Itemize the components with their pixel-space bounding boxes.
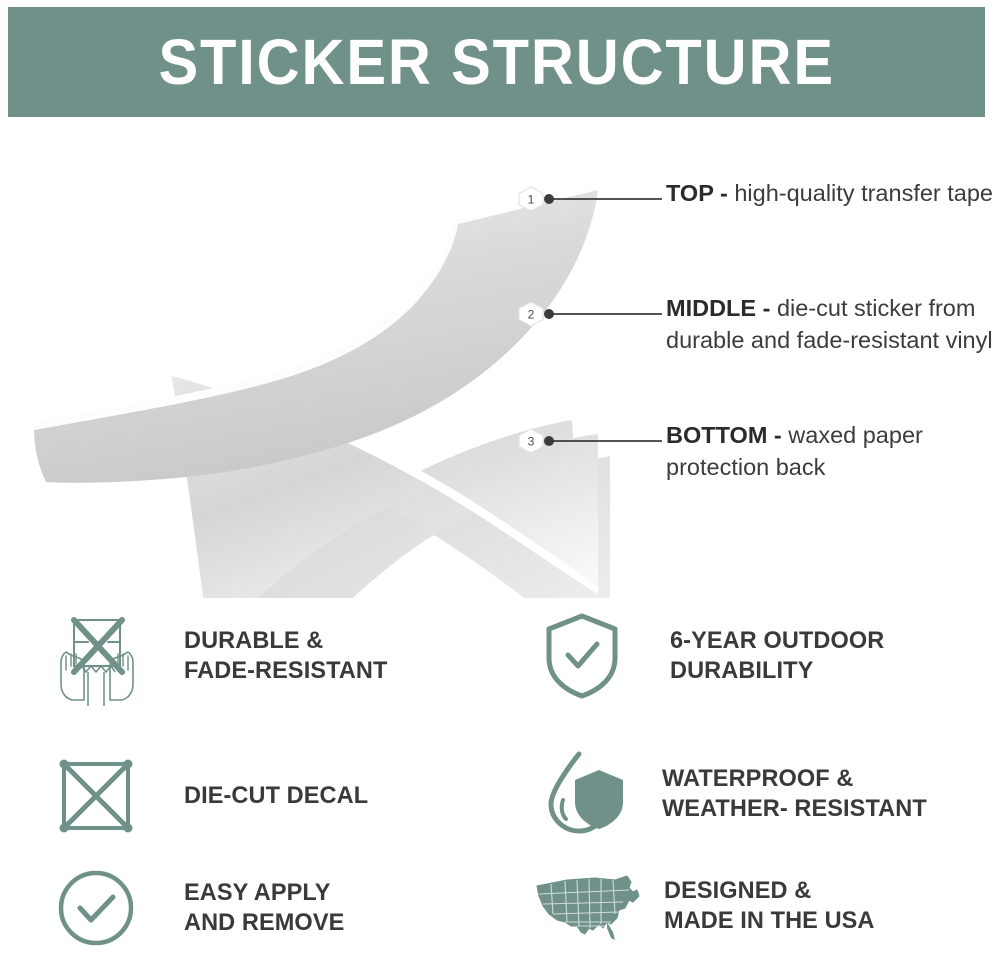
feature-label-1: DIE-CUT DECAL [184, 781, 368, 811]
infographic-page: STICKER STRUCTURE [0, 0, 1000, 953]
feature-list: DURABLE & FADE-RESISTANT DIE-CUT DECAL [0, 602, 1000, 953]
callout-number-1: 1 [528, 193, 535, 207]
feature-item-outdoor-durability: 6-YEAR OUTDOOR DURABILITY [530, 604, 893, 708]
usa-map-icon [530, 854, 648, 953]
feature-label-0: DURABLE & FADE-RESISTANT [184, 626, 387, 687]
callout-marker-2: 2 [518, 301, 666, 327]
shield-solid [575, 770, 623, 829]
feature-item-easy-apply-remove: EASY APPLY AND REMOVE [44, 856, 351, 953]
hands-tearing-paper-crossed-out-icon [44, 604, 148, 708]
callout-marker-1: 1 [518, 186, 666, 212]
feature-item-designed-made-in-usa: DESIGNED & MADE IN THE USA [530, 854, 883, 953]
callout-body-1: high-quality transfer tape [728, 180, 993, 206]
shield-check-icon [530, 604, 634, 708]
water-drop-shield-icon [530, 742, 640, 846]
callout-number-3: 3 [528, 435, 535, 449]
callout-lead-2: MIDDLE - [666, 295, 770, 321]
check-circle-icon [44, 856, 148, 953]
die-cut-square-x-icon [44, 744, 148, 848]
callout-text-2: MIDDLE - die-cut sticker from durable an… [666, 293, 996, 357]
callout-text-3: BOTTOM - waxed paper protection back [666, 420, 996, 484]
callout-lead-3: BOTTOM - [666, 422, 782, 448]
feature-item-waterproof-weather-resistant: WATERPROOF & WEATHER- RESISTANT [530, 742, 938, 846]
callout-marker-3: 3 [518, 428, 666, 454]
callout-lead-1: TOP - [666, 180, 728, 206]
feature-label-2: EASY APPLY AND REMOVE [184, 878, 344, 939]
header-band: STICKER STRUCTURE [8, 7, 985, 117]
page-title: STICKER STRUCTURE [158, 30, 834, 94]
callout-3: 3 BOTTOM - waxed paper protection back [518, 420, 996, 484]
callout-number-2: 2 [528, 308, 535, 322]
cross-out-stroke [74, 620, 122, 672]
feature-label-4: WATERPROOF & WEATHER- RESISTANT [662, 764, 927, 825]
feature-label-3: 6-YEAR OUTDOOR DURABILITY [670, 626, 884, 687]
feature-label-5: DESIGNED & MADE IN THE USA [664, 876, 875, 937]
feature-item-die-cut-decal: DIE-CUT DECAL [44, 744, 376, 848]
callout-text-1: TOP - high-quality transfer tape [666, 178, 993, 210]
callout-2: 2 MIDDLE - die-cut sticker from durable … [518, 293, 996, 357]
feature-item-durable-fade-resistant: DURABLE & FADE-RESISTANT [44, 604, 396, 708]
callout-1: 1 TOP - high-quality transfer tape [518, 178, 993, 212]
